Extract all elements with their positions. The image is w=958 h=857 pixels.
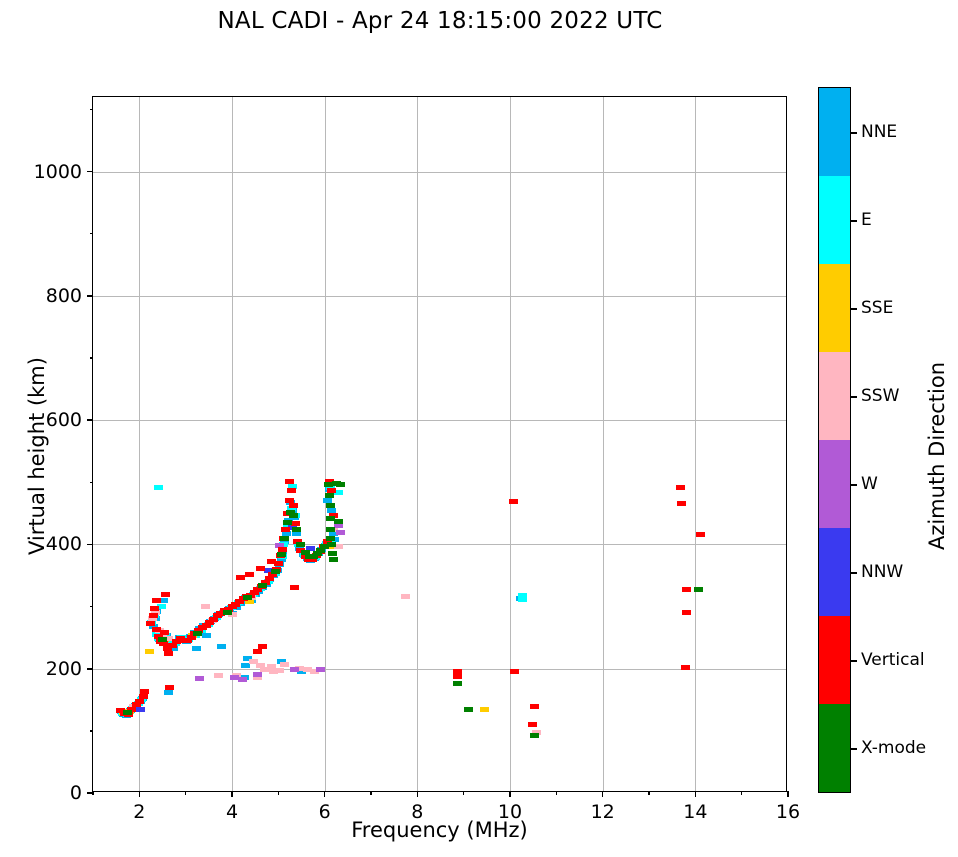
data-point-x-mode bbox=[326, 503, 335, 508]
data-point-vertical bbox=[696, 532, 705, 537]
gridline-horizontal bbox=[93, 420, 786, 421]
x-axis-title: Frequency (MHz) bbox=[92, 818, 787, 842]
data-point-sse bbox=[145, 649, 154, 654]
x-minor-tick bbox=[278, 791, 279, 795]
data-point-w bbox=[334, 523, 343, 528]
colorbar-tick bbox=[850, 660, 857, 662]
data-point-nne bbox=[217, 644, 226, 649]
y-tick-label: 200 bbox=[46, 658, 82, 680]
y-tick bbox=[87, 419, 93, 421]
colorbar-tick bbox=[850, 572, 857, 574]
data-point-x-mode bbox=[223, 610, 232, 615]
x-tick bbox=[417, 791, 419, 797]
colorbar-tick bbox=[850, 484, 857, 486]
colorbar-segment-nnw[interactable] bbox=[819, 528, 850, 616]
data-point-nne bbox=[192, 646, 201, 651]
gridline-vertical bbox=[510, 97, 511, 791]
x-tick bbox=[695, 791, 697, 797]
data-point-x-mode bbox=[243, 595, 252, 600]
data-point-w bbox=[238, 677, 247, 682]
y-tick-label: 400 bbox=[46, 533, 82, 555]
data-point-x-mode bbox=[464, 707, 473, 712]
colorbar-title: Azimuth Direction bbox=[925, 331, 949, 581]
data-point-vertical bbox=[682, 587, 691, 592]
data-point-x-mode bbox=[258, 583, 267, 588]
x-tick bbox=[787, 791, 789, 797]
y-tick bbox=[87, 668, 93, 670]
data-point-vertical bbox=[149, 613, 158, 618]
data-point-w bbox=[253, 672, 262, 677]
data-point-x-mode bbox=[336, 482, 345, 487]
data-point-vertical bbox=[528, 722, 537, 727]
data-point-vertical bbox=[453, 674, 462, 679]
data-point-sse bbox=[480, 707, 489, 712]
plot-area: 02004006008001000246810121416 bbox=[92, 96, 787, 792]
y-minor-tick bbox=[90, 482, 94, 483]
colorbar-segment-e[interactable] bbox=[819, 176, 850, 264]
data-point-x-mode bbox=[289, 513, 298, 518]
data-point-vertical bbox=[150, 606, 159, 611]
colorbar-label-nne: NNE bbox=[861, 122, 897, 142]
gridline-vertical bbox=[603, 97, 604, 791]
data-point-nne bbox=[292, 531, 301, 536]
colorbar-tick bbox=[850, 132, 857, 134]
gridline-vertical bbox=[325, 97, 326, 791]
data-point-vertical bbox=[290, 585, 299, 590]
data-point-w bbox=[290, 667, 299, 672]
data-point-vertical bbox=[278, 547, 287, 552]
y-tick-label: 1000 bbox=[34, 161, 82, 183]
x-minor-tick bbox=[463, 791, 464, 795]
data-point-w bbox=[336, 530, 345, 535]
data-point-ssw bbox=[275, 668, 284, 673]
data-point-vertical bbox=[256, 566, 265, 571]
y-minor-tick bbox=[90, 357, 94, 358]
data-point-ssw bbox=[214, 673, 223, 678]
y-tick-label: 0 bbox=[70, 782, 82, 804]
ionogram-figure: NAL CADI - Apr 24 18:15:00 2022 UTC 0200… bbox=[0, 0, 958, 857]
data-point-x-mode bbox=[328, 551, 337, 556]
x-tick bbox=[324, 791, 326, 797]
colorbar-label-sse: SSE bbox=[861, 298, 893, 318]
x-minor-tick bbox=[556, 791, 557, 795]
data-point-x-mode bbox=[326, 536, 335, 541]
data-point-x-mode bbox=[326, 527, 335, 532]
data-point-vertical bbox=[510, 669, 519, 674]
y-tick bbox=[87, 171, 93, 173]
data-point-vertical bbox=[676, 485, 685, 490]
colorbar-segment-w[interactable] bbox=[819, 440, 850, 528]
data-point-w bbox=[316, 667, 325, 672]
gridline-vertical bbox=[417, 97, 418, 791]
y-minor-tick bbox=[90, 730, 94, 731]
x-minor-tick bbox=[370, 791, 371, 795]
data-point-x-mode bbox=[327, 542, 336, 547]
data-point-x-mode bbox=[329, 557, 338, 562]
colorbar-label-ssw: SSW bbox=[861, 386, 899, 406]
x-tick bbox=[231, 791, 233, 797]
y-minor-tick bbox=[90, 109, 94, 110]
x-tick bbox=[602, 791, 604, 797]
colorbar-segment-ssw[interactable] bbox=[819, 352, 850, 440]
data-point-vertical bbox=[152, 598, 161, 603]
data-point-vertical bbox=[265, 576, 274, 581]
colorbar[interactable]: NNEESSESSWWNNWVerticalX-mode bbox=[818, 87, 851, 793]
data-point-vertical bbox=[140, 689, 149, 694]
data-point-vertical bbox=[267, 559, 276, 564]
data-point-x-mode bbox=[158, 637, 167, 642]
data-point-x-mode bbox=[325, 493, 334, 498]
data-point-e bbox=[154, 485, 163, 490]
data-point-nne bbox=[164, 690, 173, 695]
data-point-w bbox=[195, 676, 204, 681]
data-point-vertical bbox=[236, 575, 245, 580]
data-point-vertical bbox=[160, 630, 169, 635]
colorbar-tick bbox=[850, 396, 857, 398]
data-point-vertical bbox=[258, 644, 267, 649]
data-point-vertical bbox=[161, 592, 170, 597]
data-point-vertical bbox=[165, 685, 174, 690]
data-point-vertical bbox=[245, 572, 254, 577]
data-point-nnw bbox=[136, 707, 145, 712]
colorbar-label-w: W bbox=[861, 474, 878, 494]
data-point-x-mode bbox=[271, 569, 280, 574]
page-title: NAL CADI - Apr 24 18:15:00 2022 UTC bbox=[0, 8, 880, 34]
y-minor-tick bbox=[90, 233, 94, 234]
data-point-vertical bbox=[509, 499, 518, 504]
gridline-horizontal bbox=[93, 544, 786, 545]
colorbar-label-nnw: NNW bbox=[861, 562, 903, 582]
x-tick bbox=[139, 791, 141, 797]
colorbar-label-vertical: Vertical bbox=[861, 650, 925, 670]
data-point-vertical bbox=[287, 488, 296, 493]
gridline-vertical bbox=[695, 97, 696, 791]
data-point-vertical bbox=[677, 501, 686, 506]
data-point-vertical bbox=[146, 621, 155, 626]
data-point-vertical bbox=[530, 704, 539, 709]
colorbar-tick bbox=[850, 308, 857, 310]
data-point-vertical bbox=[281, 527, 290, 532]
data-point-x-mode bbox=[123, 710, 132, 715]
data-point-x-mode bbox=[530, 733, 539, 738]
data-point-vertical bbox=[285, 479, 294, 484]
data-point-x-mode bbox=[193, 631, 202, 636]
colorbar-tick bbox=[850, 748, 857, 750]
colorbar-tick bbox=[850, 220, 857, 222]
data-point-x-mode bbox=[453, 681, 462, 686]
y-tick-label: 800 bbox=[46, 285, 82, 307]
data-point-vertical bbox=[253, 649, 262, 654]
data-point-vertical bbox=[681, 665, 690, 670]
colorbar-label-x-mode: X-mode bbox=[861, 738, 926, 758]
data-point-vertical bbox=[139, 694, 148, 699]
colorbar-segment-nne[interactable] bbox=[819, 88, 850, 176]
data-point-ssw bbox=[280, 662, 289, 667]
colorbar-label-e: E bbox=[861, 210, 872, 230]
data-point-e bbox=[518, 597, 527, 602]
data-point-vertical bbox=[682, 610, 691, 615]
data-canvas bbox=[93, 97, 786, 791]
colorbar-segment-vertical[interactable] bbox=[819, 616, 850, 704]
data-point-x-mode bbox=[694, 587, 703, 592]
x-minor-tick bbox=[741, 791, 742, 795]
gridline-vertical bbox=[139, 97, 140, 791]
data-point-nne bbox=[241, 663, 250, 668]
data-point-x-mode bbox=[296, 542, 305, 547]
data-point-ssw bbox=[201, 604, 210, 609]
x-minor-tick bbox=[648, 791, 649, 795]
data-point-x-mode bbox=[334, 519, 343, 524]
x-minor-tick bbox=[185, 791, 186, 795]
y-minor-tick bbox=[90, 606, 94, 607]
y-tick bbox=[87, 544, 93, 546]
gridline-horizontal bbox=[93, 296, 786, 297]
data-point-vertical bbox=[135, 699, 144, 704]
data-point-ssw bbox=[401, 594, 410, 599]
gridline-vertical bbox=[232, 97, 233, 791]
y-tick bbox=[87, 295, 93, 297]
gridline-horizontal bbox=[93, 172, 786, 173]
data-point-vertical bbox=[289, 503, 298, 508]
x-tick bbox=[509, 791, 511, 797]
data-point-x-mode bbox=[283, 520, 292, 525]
y-axis-title: Virtual height (km) bbox=[25, 331, 49, 581]
x-minor-tick bbox=[92, 791, 93, 795]
data-point-x-mode bbox=[292, 527, 301, 532]
data-point-x-mode bbox=[277, 552, 286, 557]
colorbar-segment-sse[interactable] bbox=[819, 264, 850, 352]
y-tick-label: 600 bbox=[46, 409, 82, 431]
data-point-vertical bbox=[164, 651, 173, 656]
data-point-x-mode bbox=[280, 536, 289, 541]
data-point-nne bbox=[202, 633, 211, 638]
colorbar-segment-x-mode[interactable] bbox=[819, 704, 850, 792]
